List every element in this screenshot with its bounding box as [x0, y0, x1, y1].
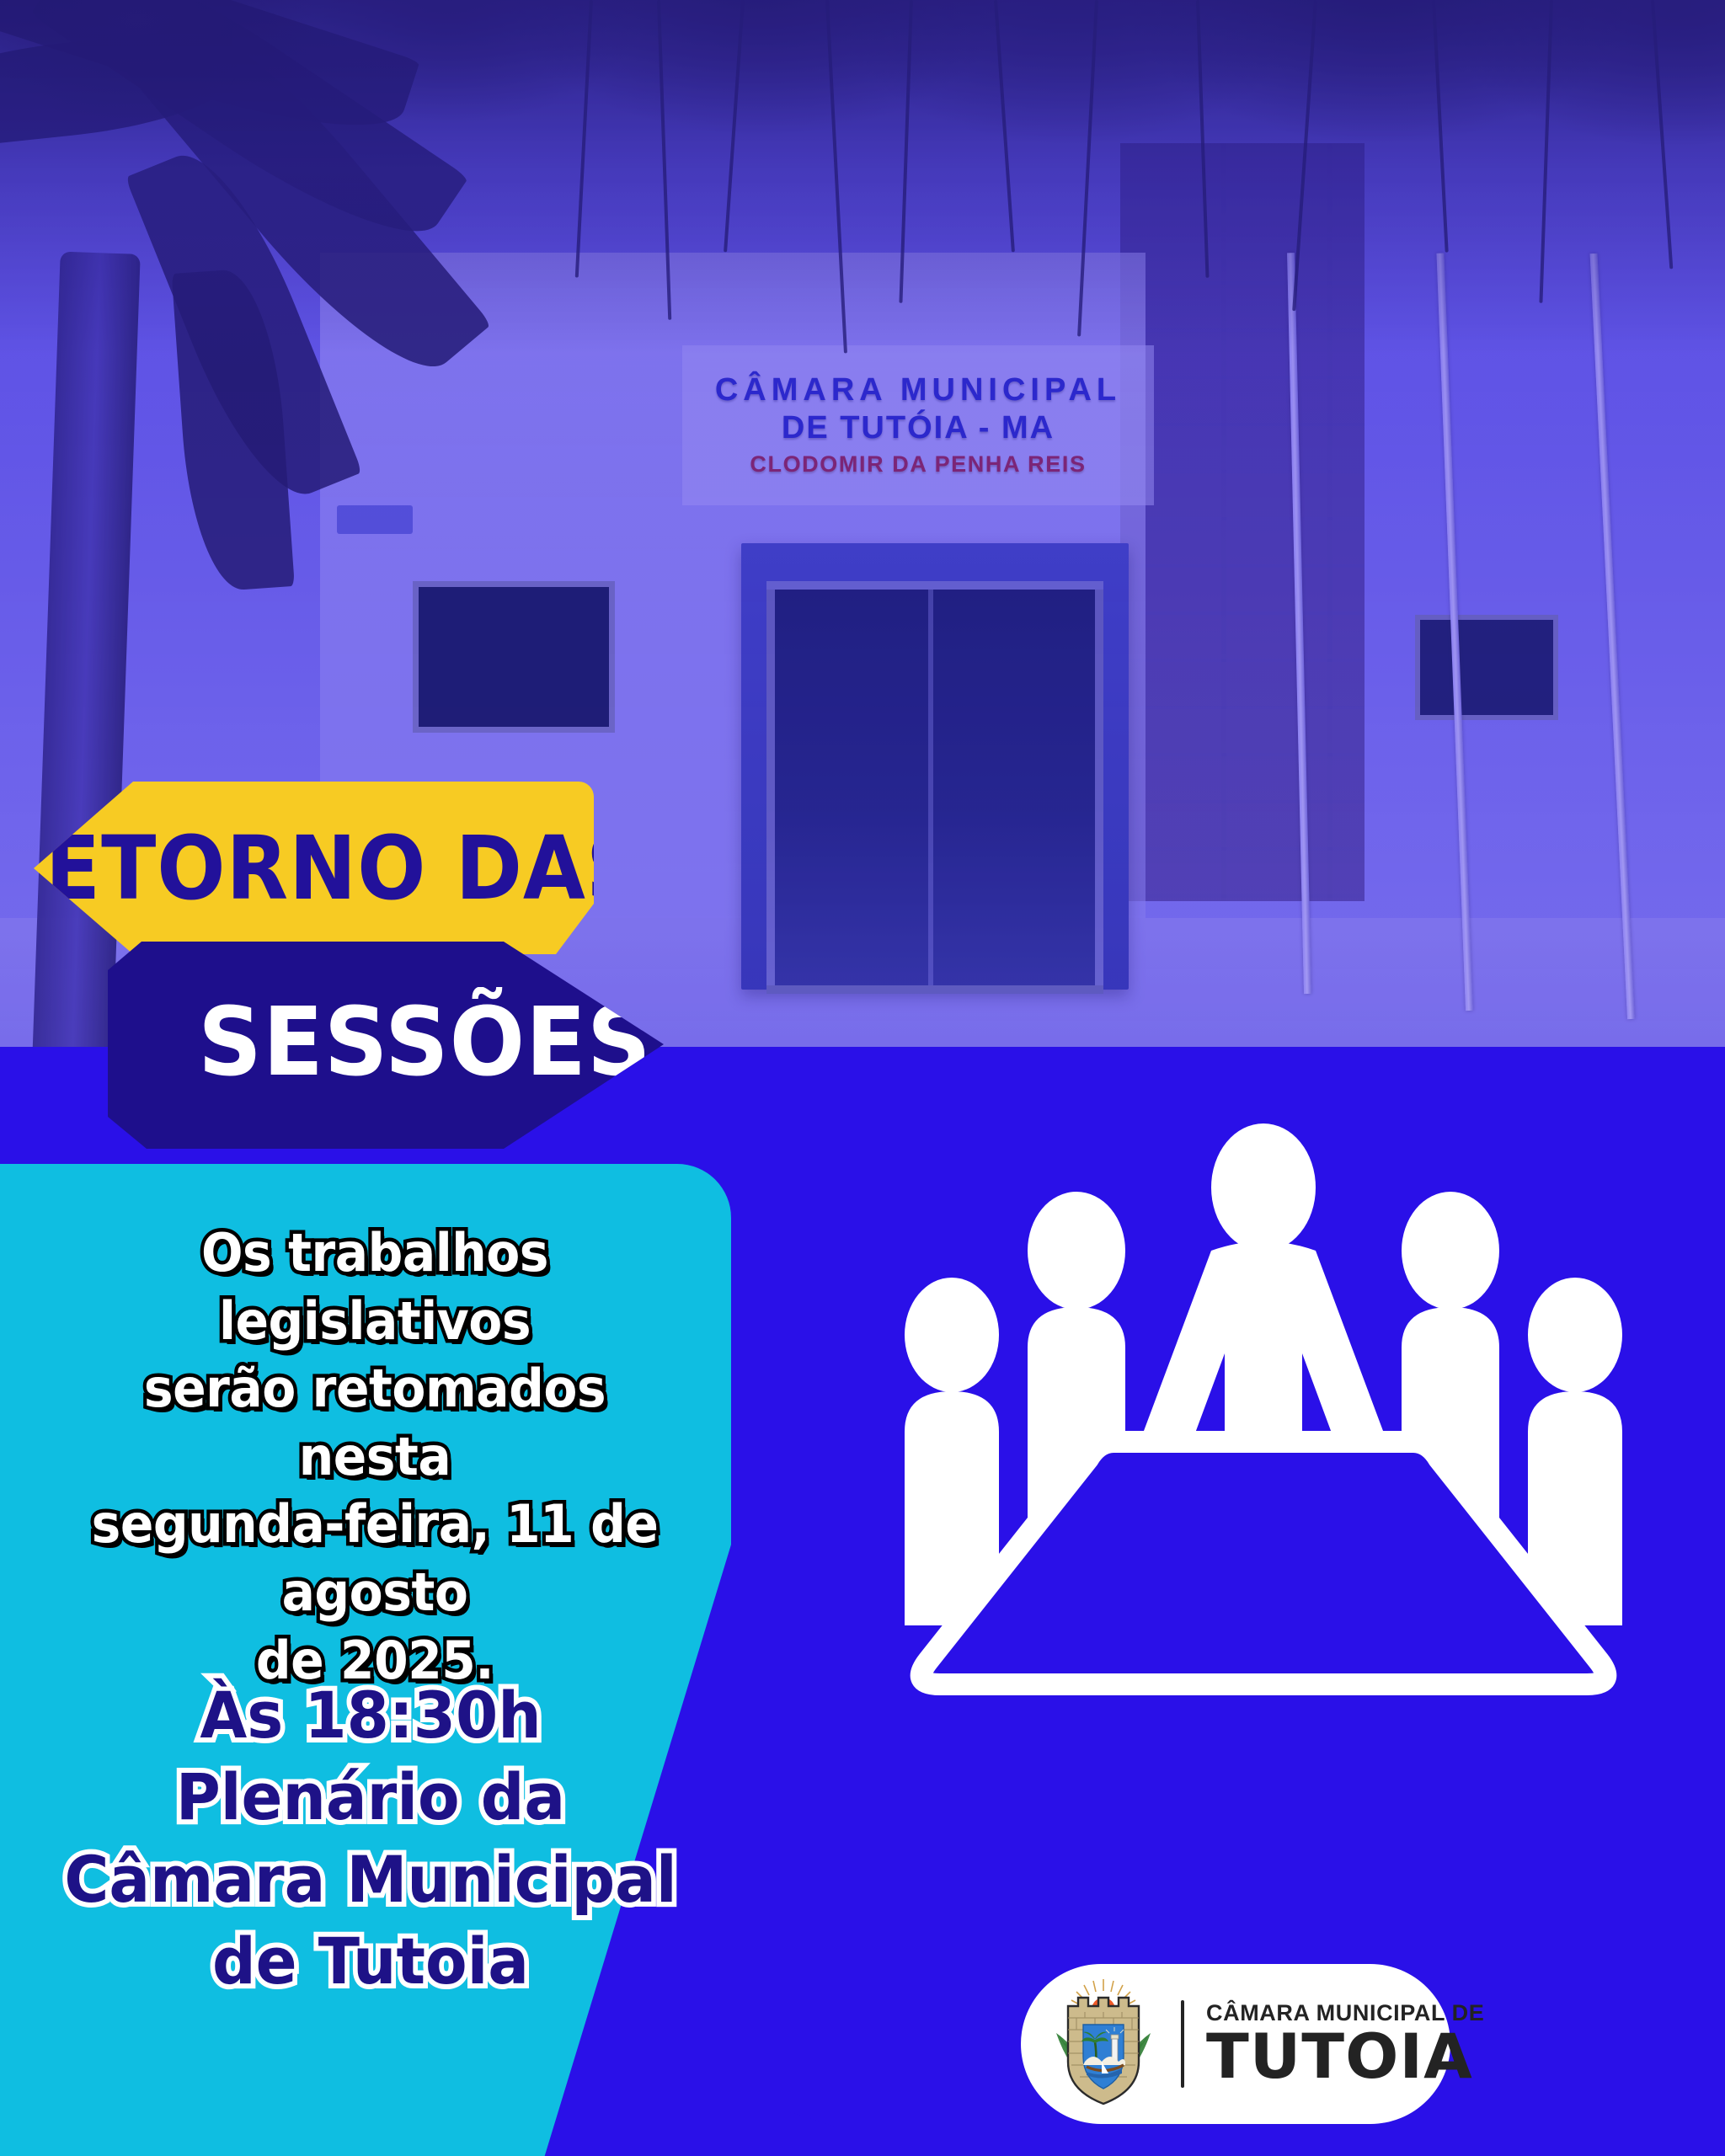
- logo-city-name: TUTOIA: [1206, 2029, 1490, 2085]
- event-venue-line-2: Câmara Municipal: [51, 1838, 691, 1920]
- event-details-text: Às 18:30h Plenário da Câmara Municipal d…: [51, 1674, 691, 2002]
- banner-yellow-label: RETORNO DAS: [0, 817, 645, 920]
- event-venue-line-1: Plenário da: [51, 1756, 691, 1838]
- tutoia-coat-of-arms-icon: [1039, 1977, 1167, 2111]
- announcement-line-2: serão retomados nesta: [62, 1355, 688, 1491]
- logo-divider: [1181, 2000, 1184, 2088]
- banner-navy-label: SESSÕES: [198, 988, 651, 1097]
- announcement-line-3: segunda-feira, 11 de agosto: [62, 1491, 688, 1626]
- announcement-text: Os trabalhos legislativos serão retomado…: [62, 1219, 688, 1694]
- announcement-line-1: Os trabalhos legislativos: [62, 1219, 688, 1355]
- banner-retorno-das: RETORNO DAS: [34, 782, 594, 954]
- meeting-table-people-icon: [868, 1095, 1659, 1718]
- event-venue-line-3: de Tutoia: [51, 1920, 691, 2002]
- logo-pill: CÂMARA MUNICIPAL DE TUTOIA: [1021, 1964, 1450, 2124]
- poster-canvas: CÂMARA MUNICIPAL DE TUTÓIA - MA CLODOMIR…: [0, 0, 1725, 2156]
- event-time: Às 18:30h: [51, 1674, 691, 1756]
- logo-wordmark: CÂMARA MUNICIPAL DE TUTOIA: [1206, 2002, 1484, 2085]
